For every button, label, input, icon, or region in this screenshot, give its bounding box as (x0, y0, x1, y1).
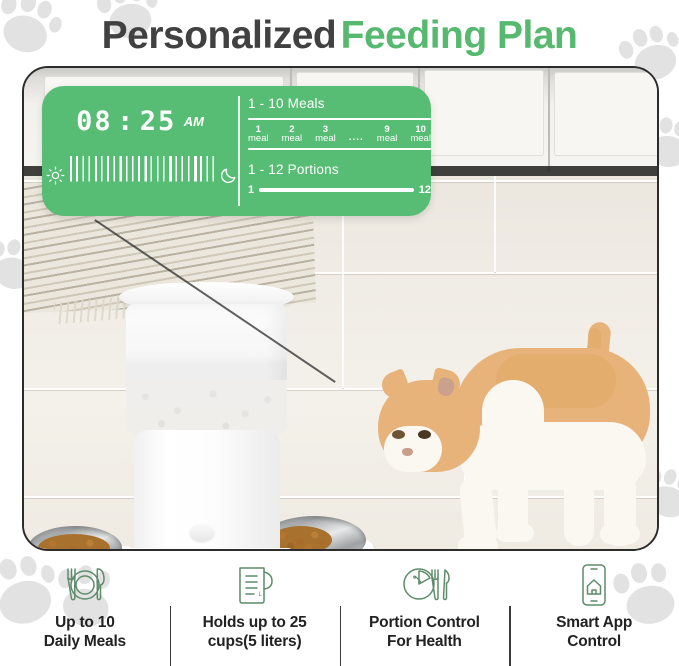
feature-caption: Smart App Control (556, 613, 632, 652)
feeding-plan-panel: 08 : 25 AM (42, 86, 431, 216)
meal-option[interactable]: 9 meal (377, 125, 398, 144)
meal-option[interactable]: 2 meal (282, 125, 303, 144)
panel-divider (238, 96, 240, 206)
moon-icon (219, 166, 238, 190)
plate-cutlery-icon (55, 562, 115, 608)
portion-max-label: 12 (419, 184, 431, 196)
meal-option-unit: meal (282, 134, 303, 144)
feature-capacity: L Holds up to 25 cups(5 liters) (170, 558, 340, 666)
clock-separator: : (117, 106, 135, 137)
day-night-scale (46, 150, 238, 206)
portion-min-label: 1 (248, 184, 254, 196)
meal-option[interactable]: 3 meal (315, 125, 336, 144)
portion-slider[interactable]: 1 12 (248, 184, 431, 196)
clock-meridiem: AM (184, 114, 204, 129)
cat-photo-subject (356, 326, 659, 551)
meal-count-row: 1 meal 2 meal 3 meal .... 9 meal 10 meal (248, 125, 431, 144)
feature-portion-control: Portion Control For Health (340, 558, 510, 666)
feature-daily-meals: Up to 10 Daily Meals (0, 558, 170, 666)
panel-schedule-section: 08 : 25 AM (42, 86, 238, 216)
clock-hours: 08 (76, 106, 113, 137)
feature-caption-line-2: For Health (387, 633, 462, 650)
meal-option[interactable]: 1 meal (248, 125, 269, 144)
page-title: Personalized Feeding Plan (0, 14, 679, 58)
feeder-dial-button (190, 524, 214, 541)
kibble-in-hopper (126, 380, 287, 436)
sun-icon (46, 166, 65, 190)
page-title-part-one: Personalized (102, 14, 337, 57)
meals-rule-top (248, 118, 431, 120)
feeder-base (120, 548, 294, 551)
feature-caption-line-2: cups(5 liters) (208, 633, 302, 650)
portion-slider-track[interactable] (259, 188, 414, 192)
automatic-pet-feeder: NEATETER (114, 282, 304, 551)
feature-caption-line-1: Holds up to 25 (203, 614, 307, 631)
meals-heading: 1 - 10 Meals (248, 96, 431, 111)
feature-caption-line-2: Daily Meals (44, 633, 126, 650)
feature-smart-app: Smart App Control (509, 558, 679, 666)
feature-caption-line-1: Smart App (556, 614, 632, 631)
portion-plate-icon (395, 562, 453, 608)
feature-row: Up to 10 Daily Meals L Holds up to 25 cu… (0, 558, 679, 666)
svg-text:L: L (258, 592, 262, 598)
meal-option-unit: meal (410, 134, 431, 144)
meal-ellipsis: .... (349, 132, 364, 144)
meal-option[interactable]: 10 meal (410, 125, 431, 144)
feature-caption: Holds up to 25 cups(5 liters) (203, 613, 307, 652)
feature-caption-line-1: Up to 10 (55, 614, 115, 631)
page-title-part-two: Feeding Plan (341, 14, 578, 57)
meal-option-unit: meal (377, 134, 398, 144)
measuring-cup-icon: L (231, 562, 279, 608)
meals-rule-bottom (248, 148, 431, 150)
portions-heading: 1 - 12 Portions (248, 162, 431, 177)
feature-caption: Up to 10 Daily Meals (44, 613, 126, 652)
clock-display: 08 : 25 AM (42, 106, 238, 137)
time-scale-ticks (70, 156, 214, 200)
panel-settings-section: 1 - 10 Meals 1 meal 2 meal 3 meal .... 9… (248, 86, 431, 216)
smartphone-home-icon (577, 562, 611, 608)
meal-option-unit: meal (315, 134, 336, 144)
feature-caption-line-1: Portion Control (369, 614, 480, 631)
clock-minutes: 25 (140, 106, 177, 137)
meal-option-unit: meal (248, 134, 269, 144)
feature-caption: Portion Control For Health (369, 613, 480, 652)
feeder-hopper (126, 304, 287, 436)
time-scale-major-ticks (70, 156, 214, 200)
feature-caption-line-2: Control (567, 633, 621, 650)
